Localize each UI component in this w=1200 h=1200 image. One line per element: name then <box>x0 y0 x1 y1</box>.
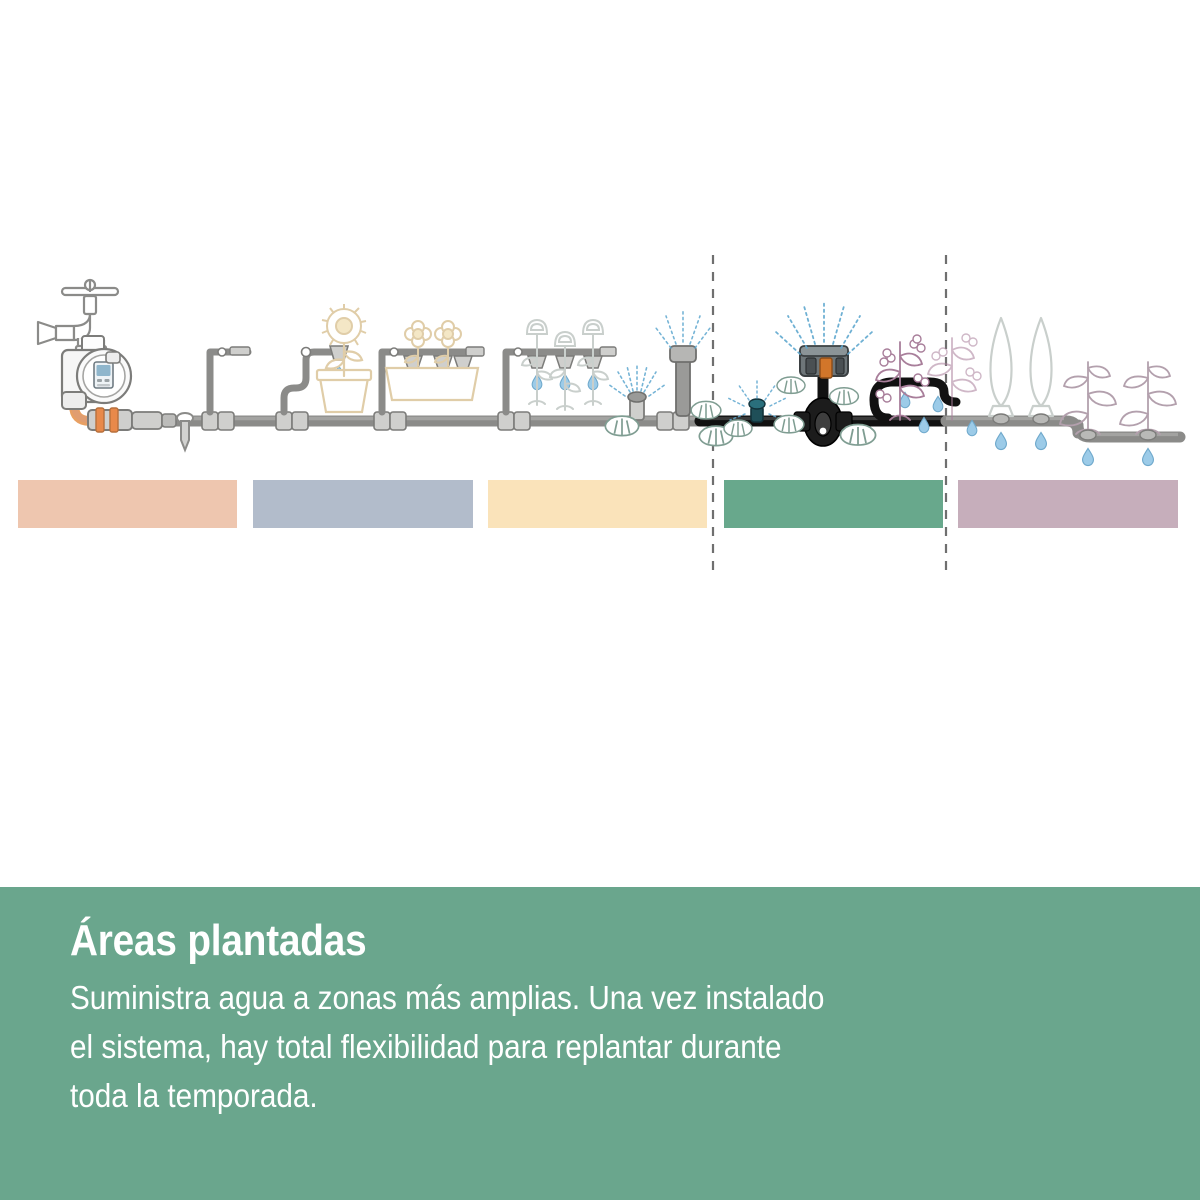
potted-plant-dripper <box>284 304 371 412</box>
water-timer <box>62 336 131 409</box>
caption-body: Suministra agua a zonas más amplias. Una… <box>70 973 826 1120</box>
caption-panel: Áreas plantadas Suministra agua a zonas … <box>0 887 1200 1200</box>
irrigation-diagram <box>0 0 1200 887</box>
outdoor-tap <box>38 280 118 356</box>
micro-sprinkler <box>608 364 666 420</box>
zone-bar-green <box>724 480 943 528</box>
t-fitting <box>498 412 530 430</box>
caption-title: Áreas plantadas <box>70 915 1003 967</box>
t-fitting <box>374 412 406 430</box>
dripper-spur-frame-1 <box>210 347 250 412</box>
t-fitting <box>276 412 308 430</box>
hedge-drip-line <box>989 318 1053 450</box>
rose-bed-drippers <box>506 320 616 412</box>
ground-stake <box>177 413 193 450</box>
zone-bar-blue <box>253 480 473 528</box>
planter-box-drippers <box>382 321 484 412</box>
popup-sprinkler-gray <box>656 310 710 416</box>
shrub-drip-line <box>1060 362 1176 466</box>
zone-bar-cream <box>488 480 707 528</box>
berry-bushes <box>876 334 981 420</box>
t-fitting <box>202 412 234 430</box>
zone-bar-peach <box>18 480 237 528</box>
screenshot-root: Áreas plantadas Suministra agua a zonas … <box>0 0 1200 1200</box>
main-hose-connector <box>88 408 176 432</box>
zone-bar-mauve <box>958 480 1178 528</box>
